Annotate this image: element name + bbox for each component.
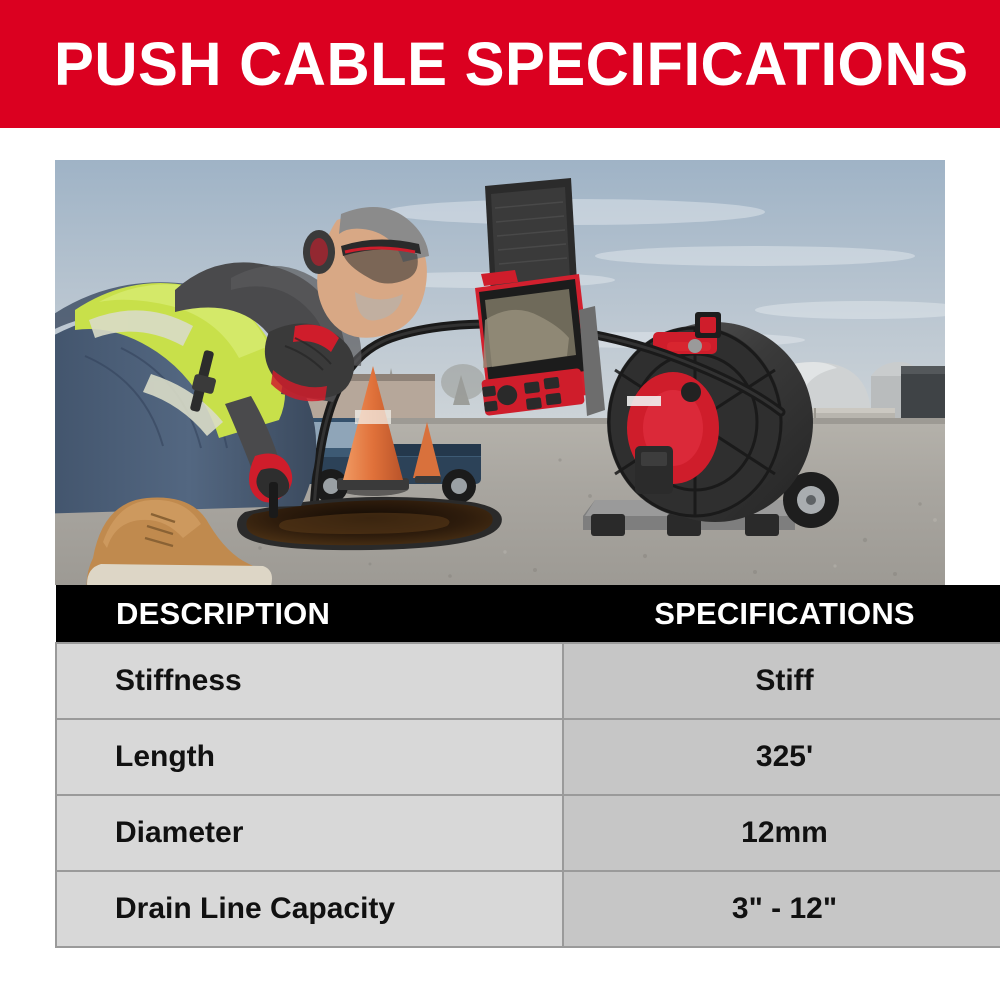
row-value-drain-line-capacity: 3" - 12" [563, 871, 1000, 947]
row-value-length: 325' [563, 719, 1000, 795]
monitor-body [475, 270, 593, 416]
page-header-banner: PUSH CABLE SPECIFICATIONS [0, 0, 1000, 128]
table-row: Drain Line Capacity 3" - 12" [56, 871, 1000, 947]
row-value-diameter: 12mm [563, 795, 1000, 871]
row-label-drain-line-capacity: Drain Line Capacity [56, 871, 563, 947]
row-label-length: Length [56, 719, 563, 795]
table-row: Diameter 12mm [56, 795, 1000, 871]
product-photo-illustration [55, 160, 945, 585]
push-cable-spec-table: DESCRIPTION SPECIFICATIONS Stiffness Sti… [55, 585, 1000, 948]
product-photo [55, 160, 945, 585]
row-value-stiffness: Stiff [563, 643, 1000, 719]
page-title: PUSH CABLE SPECIFICATIONS [54, 34, 969, 95]
column-header-description: DESCRIPTION [56, 585, 563, 643]
spec-table-head: DESCRIPTION SPECIFICATIONS [56, 585, 1000, 643]
spec-table-body: Stiffness Stiff Length 325' Diameter 12m… [56, 643, 1000, 947]
table-row: Length 325' [56, 719, 1000, 795]
column-header-specifications: SPECIFICATIONS [563, 585, 1000, 643]
boot-sole [87, 564, 272, 585]
milwaukee-logo [627, 396, 661, 406]
spec-table-header-row: DESCRIPTION SPECIFICATIONS [56, 585, 1000, 643]
row-label-stiffness: Stiffness [56, 643, 563, 719]
table-row: Stiffness Stiff [56, 643, 1000, 719]
row-label-diameter: Diameter [56, 795, 563, 871]
dumpster [901, 366, 945, 424]
